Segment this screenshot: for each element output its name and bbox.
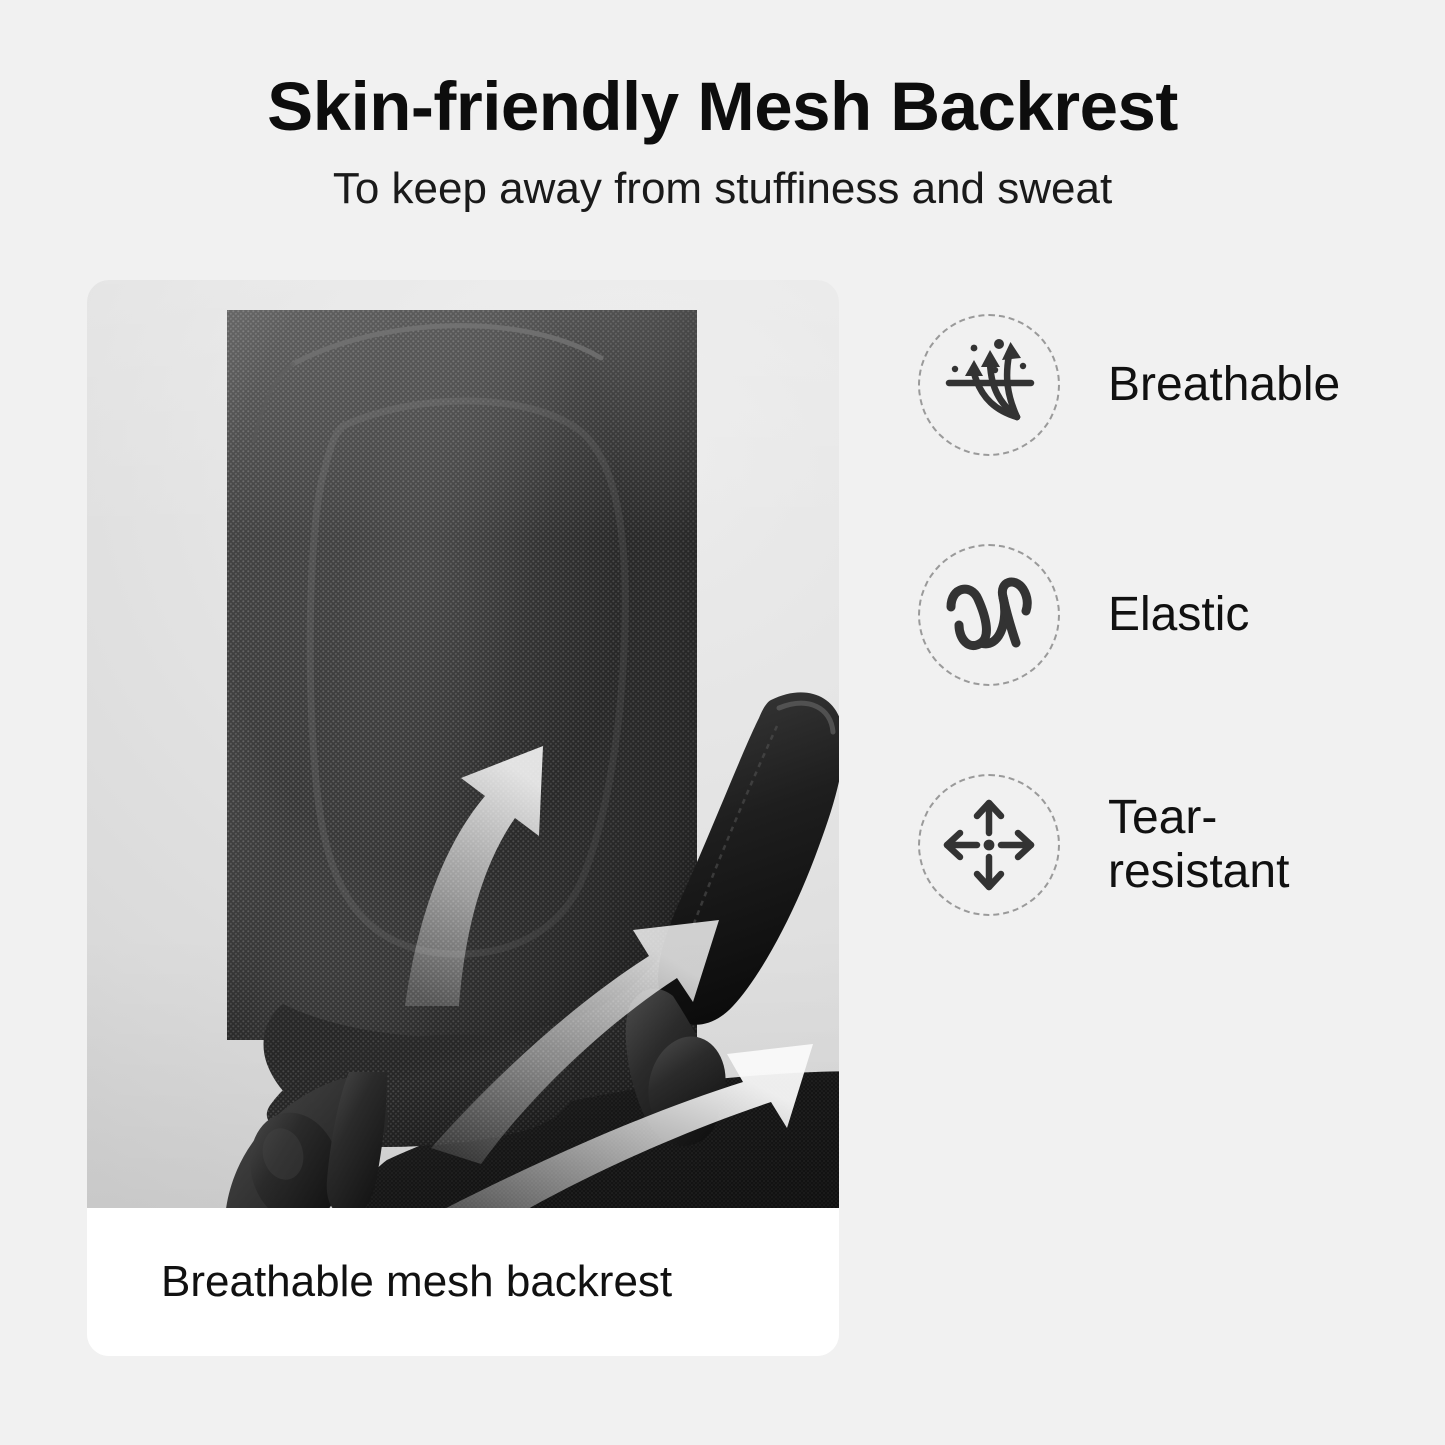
spring-coil-icon — [937, 563, 1041, 667]
feature-icon-circle — [918, 314, 1060, 456]
chair-illustration — [87, 280, 839, 1208]
feature-label-line1: Breathable — [1108, 358, 1340, 411]
page-title: Skin-friendly Mesh Backrest — [0, 72, 1445, 141]
four-way-arrows-icon — [937, 793, 1041, 897]
feature-label: Elastic — [1108, 588, 1249, 642]
feature-label-line1: Elastic — [1108, 588, 1249, 641]
feature-item-breathable: Breathable — [918, 300, 1418, 470]
product-photo-card: Breathable mesh backrest — [87, 280, 839, 1356]
feature-label: Tear- resistant — [1108, 791, 1289, 899]
feature-item-tear-resistant: Tear- resistant — [918, 760, 1418, 930]
feature-list: Breathable Elastic — [918, 300, 1418, 930]
photo-caption: Breathable mesh backrest — [87, 1208, 839, 1356]
feature-icon-circle — [918, 774, 1060, 916]
airflow-arrows-icon — [937, 333, 1041, 437]
feature-label-line2: resistant — [1108, 845, 1289, 899]
photo-caption-text: Breathable mesh backrest — [161, 1260, 672, 1304]
header: Skin-friendly Mesh Backrest To keep away… — [0, 0, 1445, 211]
feature-label-line1: Tear- — [1108, 791, 1217, 844]
feature-item-elastic: Elastic — [918, 530, 1418, 700]
product-photo — [87, 280, 839, 1208]
page-subtitle: To keep away from stuffiness and sweat — [0, 167, 1445, 211]
feature-icon-circle — [918, 544, 1060, 686]
feature-label: Breathable — [1108, 358, 1340, 412]
